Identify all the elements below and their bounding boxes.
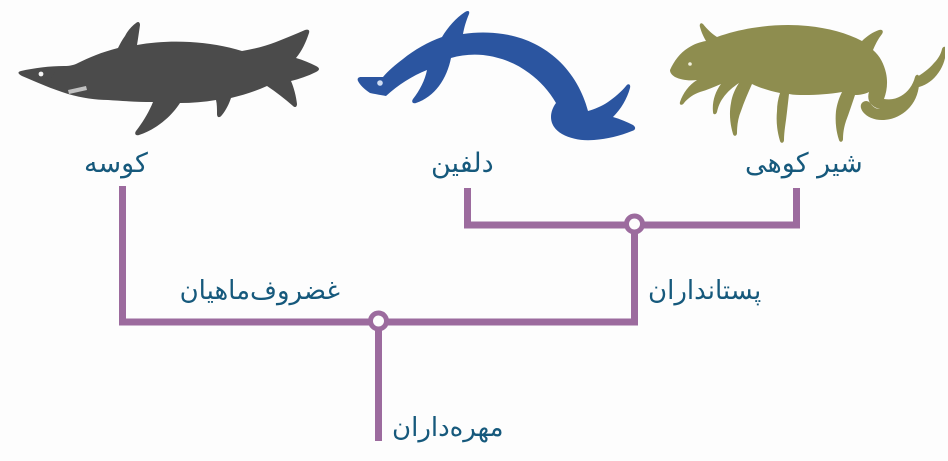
cladogram-branches bbox=[0, 0, 948, 461]
cladogram-figure: کوسه دلفین شیر کوهی غضروف‌ماهیان پستاندا… bbox=[0, 0, 948, 461]
clade-label-cartilaginous-fish: غضروف‌ماهیان bbox=[150, 278, 340, 304]
clade-label-vertebrates: مهره‌داران bbox=[392, 415, 504, 441]
node-mammals bbox=[627, 216, 643, 232]
node-vertebrates bbox=[371, 313, 387, 329]
clade-label-mammals: پستانداران bbox=[648, 278, 761, 304]
